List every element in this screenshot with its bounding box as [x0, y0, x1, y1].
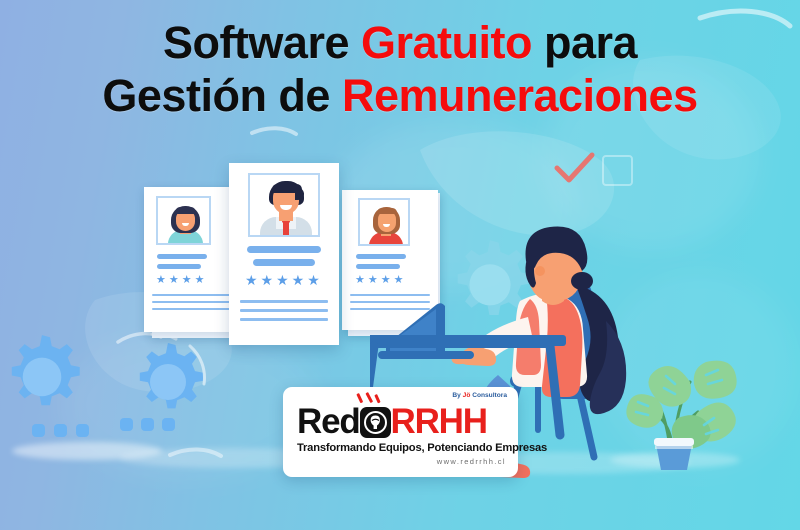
headline-part-2: para [532, 17, 637, 68]
dot-square [54, 424, 67, 437]
gear-small-left-icon [0, 318, 102, 438]
dot-square [76, 424, 89, 437]
brand-logo-card[interactable]: By Jö Consultora RedRRHH Transformando E… [283, 387, 518, 477]
red-check-mark-icon [552, 150, 598, 190]
logo-word-rrhh: RRHH [391, 402, 487, 441]
logo-motion-slash [366, 392, 373, 403]
headline-part-1: Software [163, 17, 361, 68]
card-line [157, 254, 207, 259]
headline-highlight-2: Remuneraciones [342, 70, 698, 121]
card-footer-line [240, 318, 328, 321]
headline-line-2: Gestión de Remuneraciones [0, 69, 800, 122]
rating-stars-left: ★★★★ [156, 275, 207, 286]
headline-highlight-1: Gratuito [361, 17, 532, 68]
resume-card-center[interactable]: ★★★★★ [229, 163, 339, 345]
page-title: Software Gratuito para Gestión de Remune… [0, 16, 800, 122]
card-footer-line [152, 294, 232, 296]
dot-square [162, 418, 175, 431]
poster-canvas: ★★★★ ★★★★ [0, 0, 800, 530]
empty-checkbox-icon [602, 155, 633, 186]
dot-square [32, 424, 45, 437]
logo-byline-prefix: By [452, 392, 462, 399]
card-line [253, 259, 315, 266]
logo-byline-suffix: Consultora [470, 392, 507, 399]
headline-part-3: Gestión de [102, 70, 342, 121]
resume-card-left[interactable]: ★★★★ [144, 187, 240, 332]
card-line [157, 264, 201, 269]
redorrhh-hand-mark-icon [360, 407, 391, 438]
avatar-photo-left [156, 196, 211, 245]
logo-tagline: Transformando Equipos, Potenciando Empre… [297, 442, 506, 454]
headline-line-1: Software Gratuito para [0, 16, 800, 69]
logo-byline: By Jö Consultora [452, 392, 507, 399]
card-footer-line [152, 308, 232, 310]
card-line [247, 246, 321, 253]
logo-motion-slash [375, 394, 381, 403]
card-footer-line [240, 309, 328, 312]
logo-website: www.redrrhh.cl [297, 457, 506, 466]
rating-stars-center: ★★★★★ [245, 273, 323, 287]
card-footer-line [152, 301, 232, 303]
dot-square [120, 418, 133, 431]
dot-square [141, 418, 154, 431]
avatar-photo-center [248, 173, 320, 237]
card-footer-line [240, 300, 328, 303]
logo-wordmark: RedRRHH [297, 403, 507, 441]
logo-word-red: Red [297, 402, 360, 441]
